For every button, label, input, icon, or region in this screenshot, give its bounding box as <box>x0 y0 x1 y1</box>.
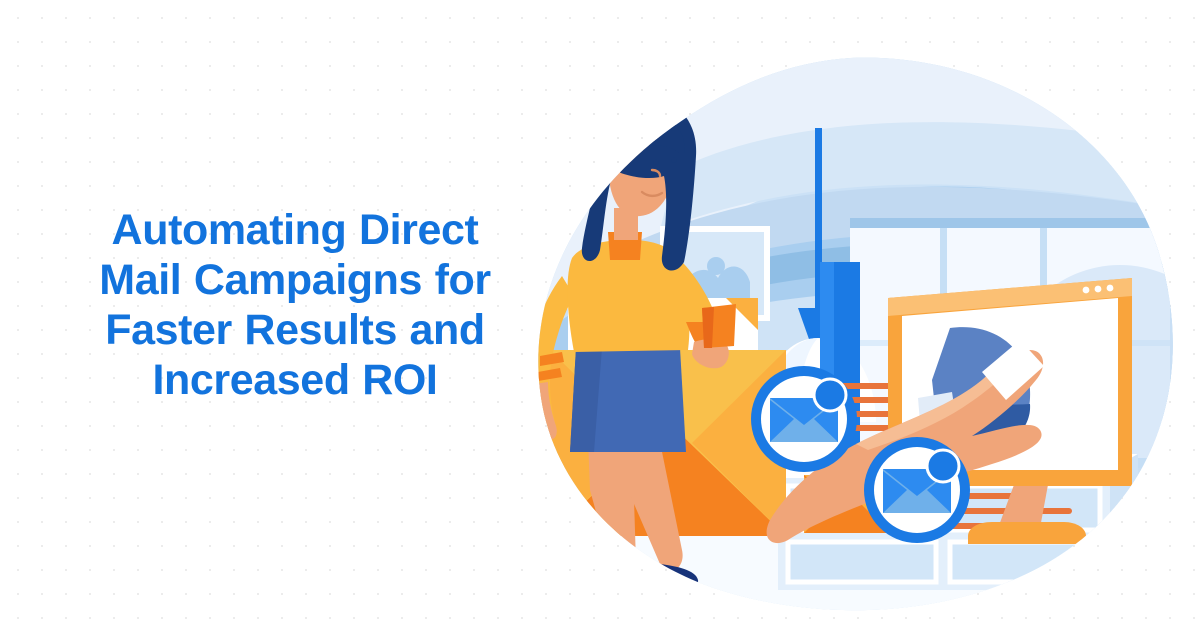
mail-badge-one <box>751 366 857 472</box>
direct-mail-automation-illustration <box>520 50 1180 620</box>
mail-badge-two <box>864 437 970 543</box>
headline-line-4: Increased ROI <box>153 356 438 404</box>
headline-line-2: Mail Campaigns for <box>99 256 490 304</box>
headline-line-3: Faster Results and <box>105 306 485 354</box>
page-title: Automating Direct Mail Campaigns for Fas… <box>60 205 530 405</box>
headline-block: Automating Direct Mail Campaigns for Fas… <box>60 205 530 405</box>
coffee-cup <box>702 304 736 348</box>
banner: Automating Direct Mail Campaigns for Fas… <box>0 0 1200 628</box>
headline-line-1: Automating Direct <box>112 206 479 254</box>
